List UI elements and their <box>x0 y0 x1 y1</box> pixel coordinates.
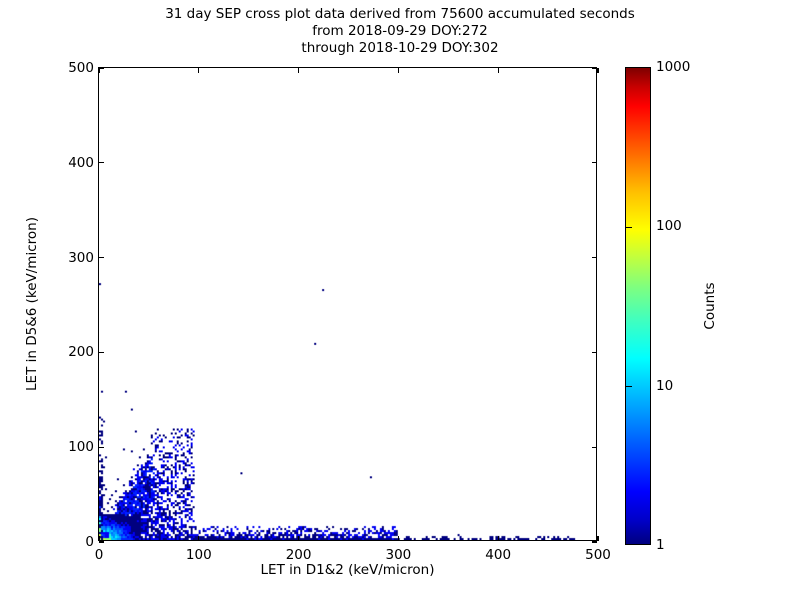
colorbar-label-container: Counts <box>700 67 720 545</box>
x-tick-label: 200 <box>286 547 312 563</box>
x-tick <box>398 536 399 541</box>
title-line-3: through 2018-10-29 DOY:302 <box>0 40 800 57</box>
colorbar-label: Counts <box>702 282 718 329</box>
y-tick-right <box>592 352 597 353</box>
colorbar <box>625 67 651 545</box>
x-tick <box>198 536 199 541</box>
y-tick <box>99 67 104 68</box>
x-tick <box>98 536 99 541</box>
figure: 31 day SEP cross plot data derived from … <box>0 0 800 600</box>
y-tick-right <box>592 162 597 163</box>
x-tick-label: 500 <box>585 547 611 563</box>
colorbar-tick <box>626 227 632 228</box>
x-tick-label: 0 <box>95 547 104 563</box>
y-tick-label: 500 <box>68 60 94 76</box>
plot-area: 01002003004005000100200300400500 <box>98 67 597 541</box>
colorbar-tick-label: 1000 <box>656 59 690 75</box>
y-axis-label: LET in D5&6 (keV/micron) <box>24 217 40 391</box>
colorbar-tick-label: 1 <box>656 537 665 553</box>
x-tick-top <box>198 68 199 73</box>
x-tick-top <box>398 68 399 73</box>
y-tick-label: 300 <box>68 250 94 266</box>
y-tick-label: 400 <box>68 155 94 171</box>
y-tick <box>99 162 104 163</box>
x-tick-top <box>597 68 598 73</box>
colorbar-tick <box>626 386 632 387</box>
y-tick-right <box>592 447 597 448</box>
colorbar-tick-label: 10 <box>656 378 673 394</box>
y-tick <box>99 447 104 448</box>
y-tick-label: 200 <box>68 344 94 360</box>
x-tick-label: 100 <box>186 547 212 563</box>
y-tick-right <box>592 67 597 68</box>
x-tick-label: 400 <box>485 547 511 563</box>
y-axis-label-container: LET in D5&6 (keV/micron) <box>22 67 42 541</box>
y-tick-right <box>592 257 597 258</box>
x-tick-top <box>298 68 299 73</box>
colorbar-tick-label: 100 <box>656 218 682 234</box>
x-tick-label: 300 <box>386 547 412 563</box>
x-tick <box>597 536 598 541</box>
y-tick-label: 100 <box>68 439 94 455</box>
scatter-canvas <box>99 68 596 540</box>
x-tick <box>298 536 299 541</box>
y-tick <box>99 352 104 353</box>
y-tick-label: 0 <box>85 534 94 550</box>
title-line-1: 31 day SEP cross plot data derived from … <box>0 6 800 23</box>
y-tick <box>99 257 104 258</box>
x-tick-top <box>498 68 499 73</box>
x-tick <box>498 536 499 541</box>
y-tick <box>99 541 104 542</box>
chart-title: 31 day SEP cross plot data derived from … <box>0 6 800 57</box>
x-axis-label: LET in D1&2 (keV/micron) <box>98 562 597 578</box>
title-line-2: from 2018-09-29 DOY:272 <box>0 23 800 40</box>
y-tick-right <box>592 541 597 542</box>
